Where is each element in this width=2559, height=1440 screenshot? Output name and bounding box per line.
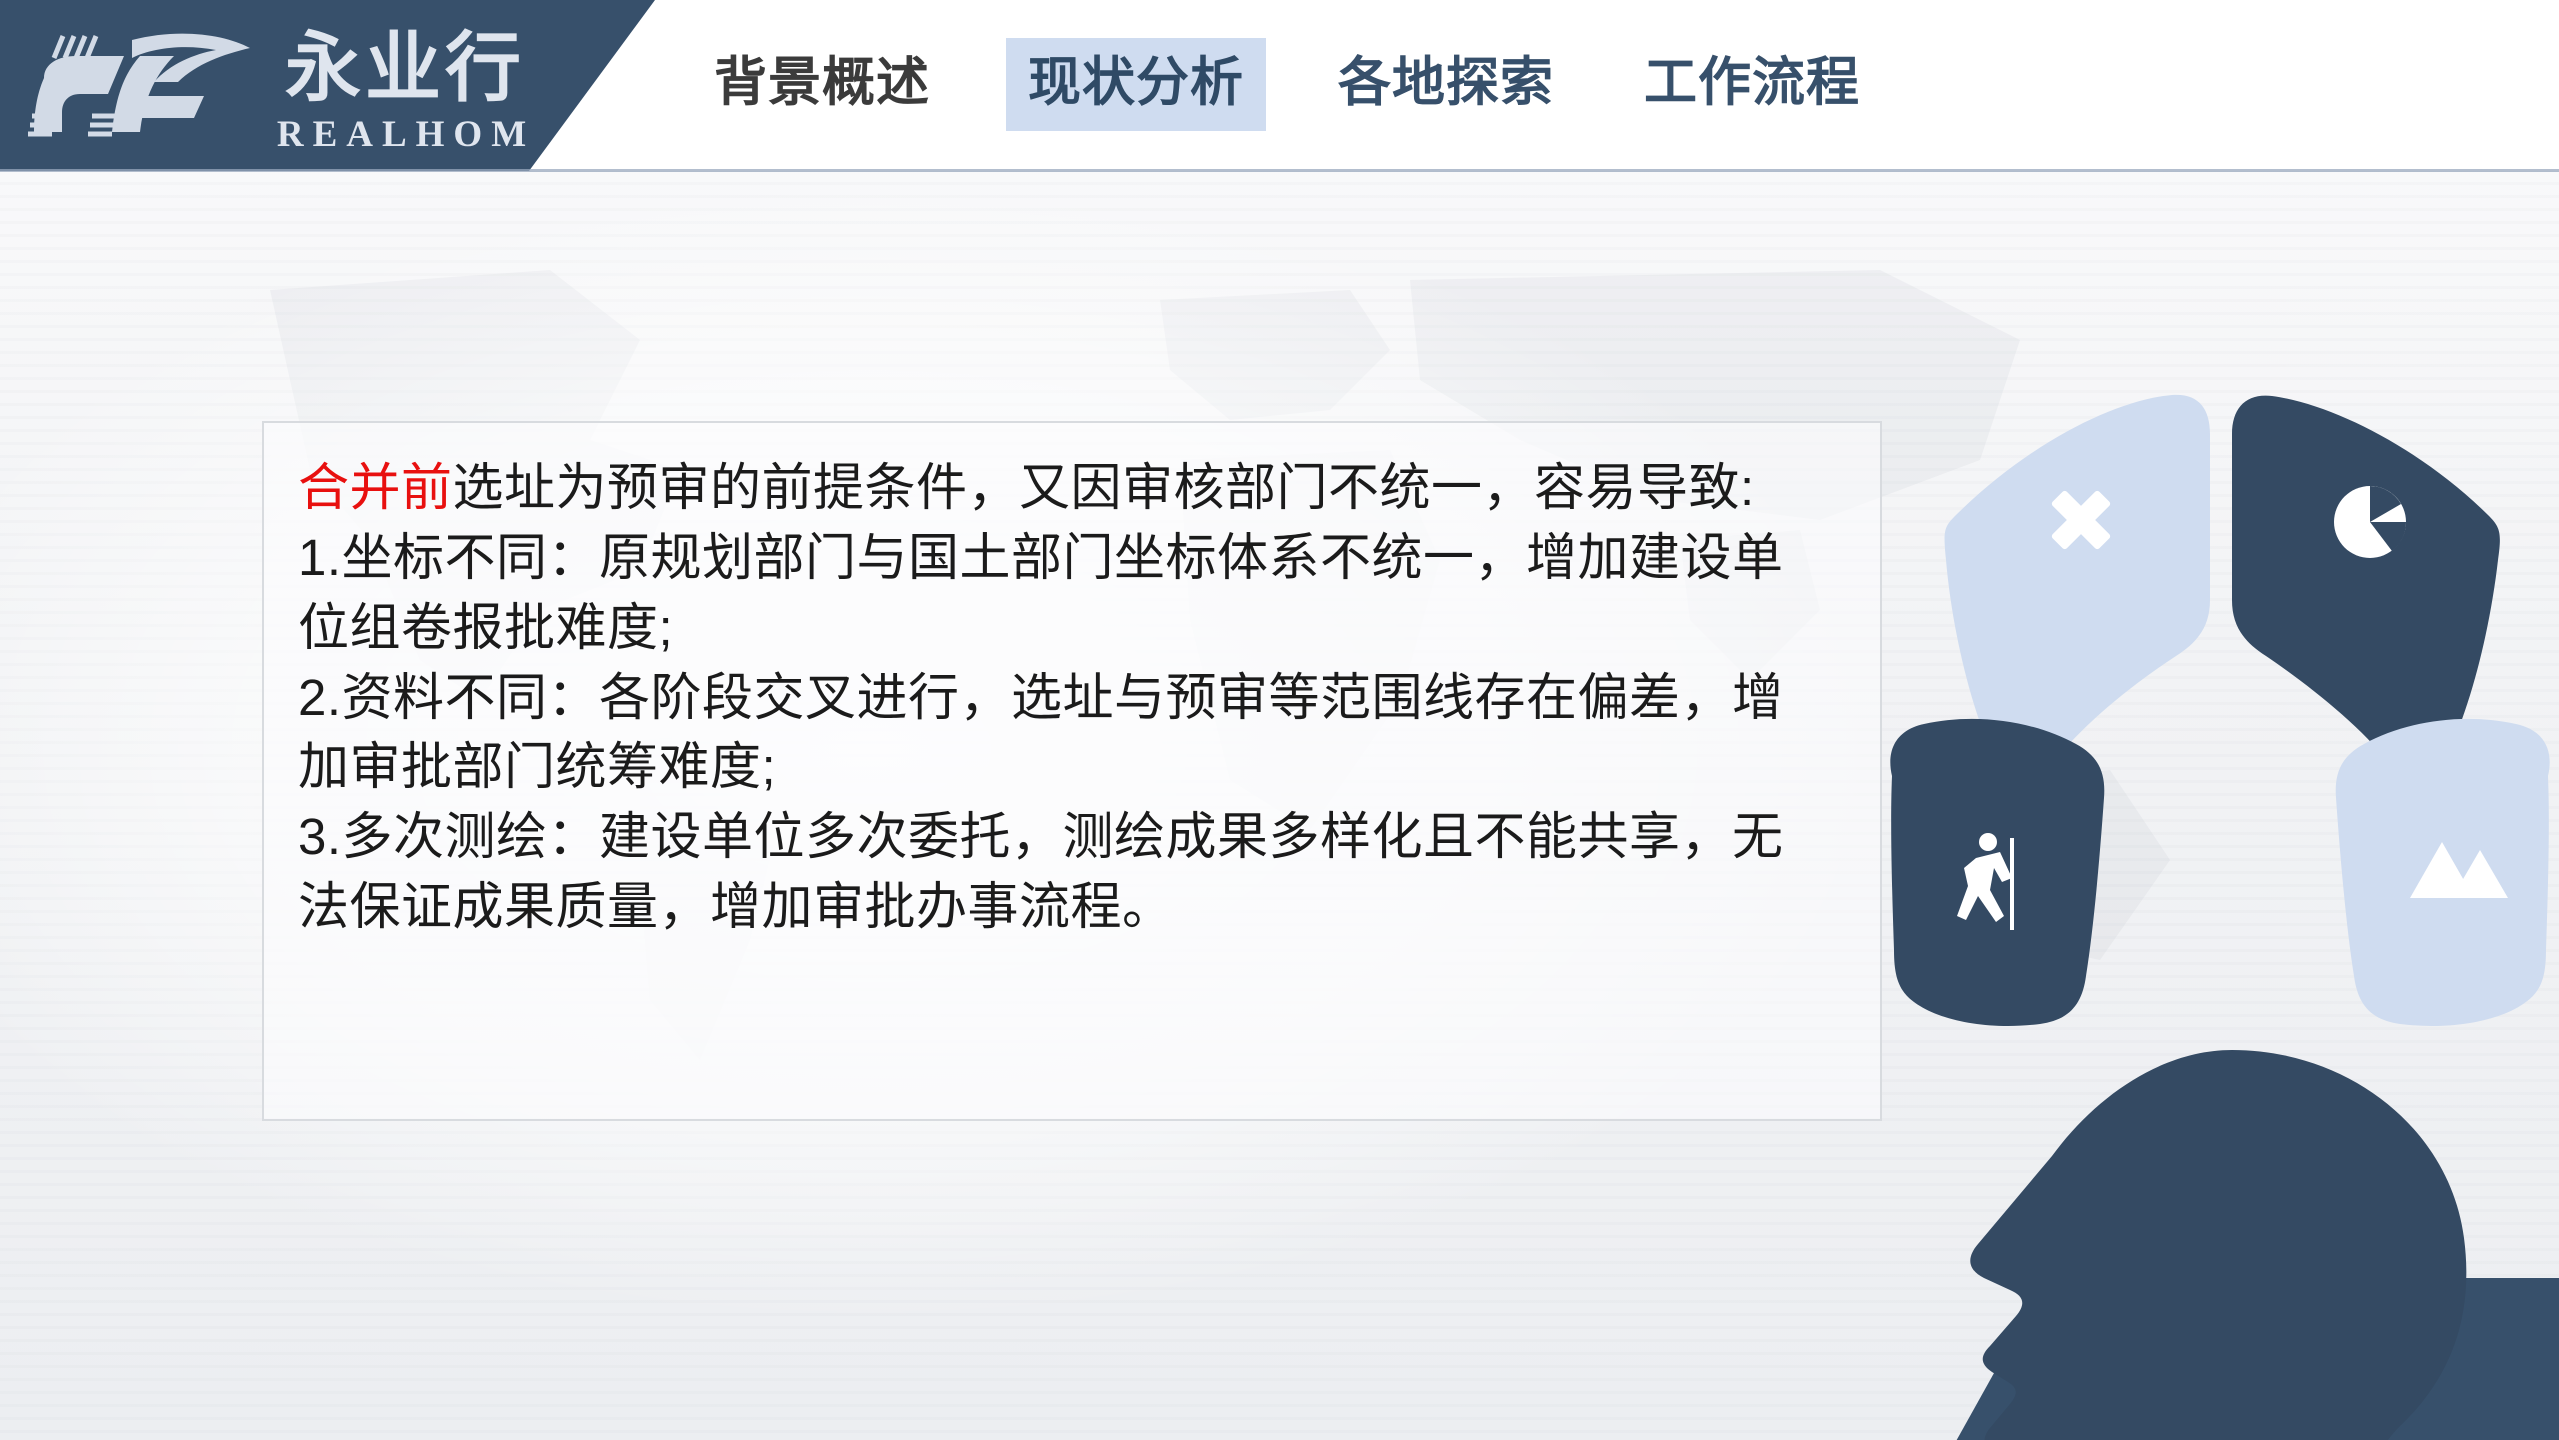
content-line-6: 法保证成果质量，增加审批办事流程。 xyxy=(298,872,1846,942)
logo-latin-name: REALHOM xyxy=(256,116,556,153)
logo-plate[interactable]: 永业行 REALHOM xyxy=(0,0,655,171)
main-nav: 背景概述 现状分析 各地探索 工作流程 xyxy=(700,0,1936,169)
content-line-5: 3.多次测绘：建设单位多次委托，测绘成果多样化且不能共享，无 xyxy=(298,802,1846,872)
nav-tab-background-overview[interactable]: 背景概述 xyxy=(700,40,944,129)
nav-tab-current-analysis[interactable]: 现状分析 xyxy=(1006,38,1266,131)
nav-tab-workflow[interactable]: 工作流程 xyxy=(1630,40,1874,129)
thinking-head-infographic xyxy=(1880,330,2559,1440)
intro-rest: 选址为预审的前提条件，又因审核部门不统一，容易导致: xyxy=(453,459,1755,516)
realhom-monogram-icon xyxy=(28,20,273,146)
content-line-3: 2.资料不同：各阶段交叉进行，选址与预审等范围线存在偏差，增 xyxy=(298,663,1846,733)
header-bottom-rule xyxy=(0,169,2559,172)
content-line-2: 位组卷报批难度; xyxy=(298,593,1846,663)
content-line-1: 1.坐标不同：原规划部门与国土部门坐标体系不统一，增加建设单 xyxy=(298,523,1846,593)
logo-chinese-name: 永业行 xyxy=(255,22,555,114)
content-line-4: 加审批部门统筹难度; xyxy=(298,732,1846,802)
svg-text:永业行: 永业行 xyxy=(285,23,525,112)
top-header: 永业行 REALHOM 背景概述 现状分析 各地探索 工作流程 xyxy=(0,0,2559,171)
pie-chart-icon xyxy=(2334,486,2406,558)
petal-hiker[interactable] xyxy=(1890,719,2104,1026)
head-silhouette-icon xyxy=(1970,1050,2466,1440)
content-text-panel: 合并前选址为预审的前提条件，又因审核部门不统一，容易导致: 1.坐标不同：原规划… xyxy=(262,421,1882,1121)
content-intro-line: 合并前选址为预审的前提条件，又因审核部门不统一，容易导致: xyxy=(298,453,1846,523)
petal-mountain[interactable] xyxy=(2336,719,2550,1026)
slide-canvas: 永业行 REALHOM 背景概述 现状分析 各地探索 工作流程 合并前选址为预审… xyxy=(0,0,2559,1440)
nav-tab-regional-exploration[interactable]: 各地探索 xyxy=(1324,40,1568,129)
intro-highlight: 合并前 xyxy=(298,459,453,516)
